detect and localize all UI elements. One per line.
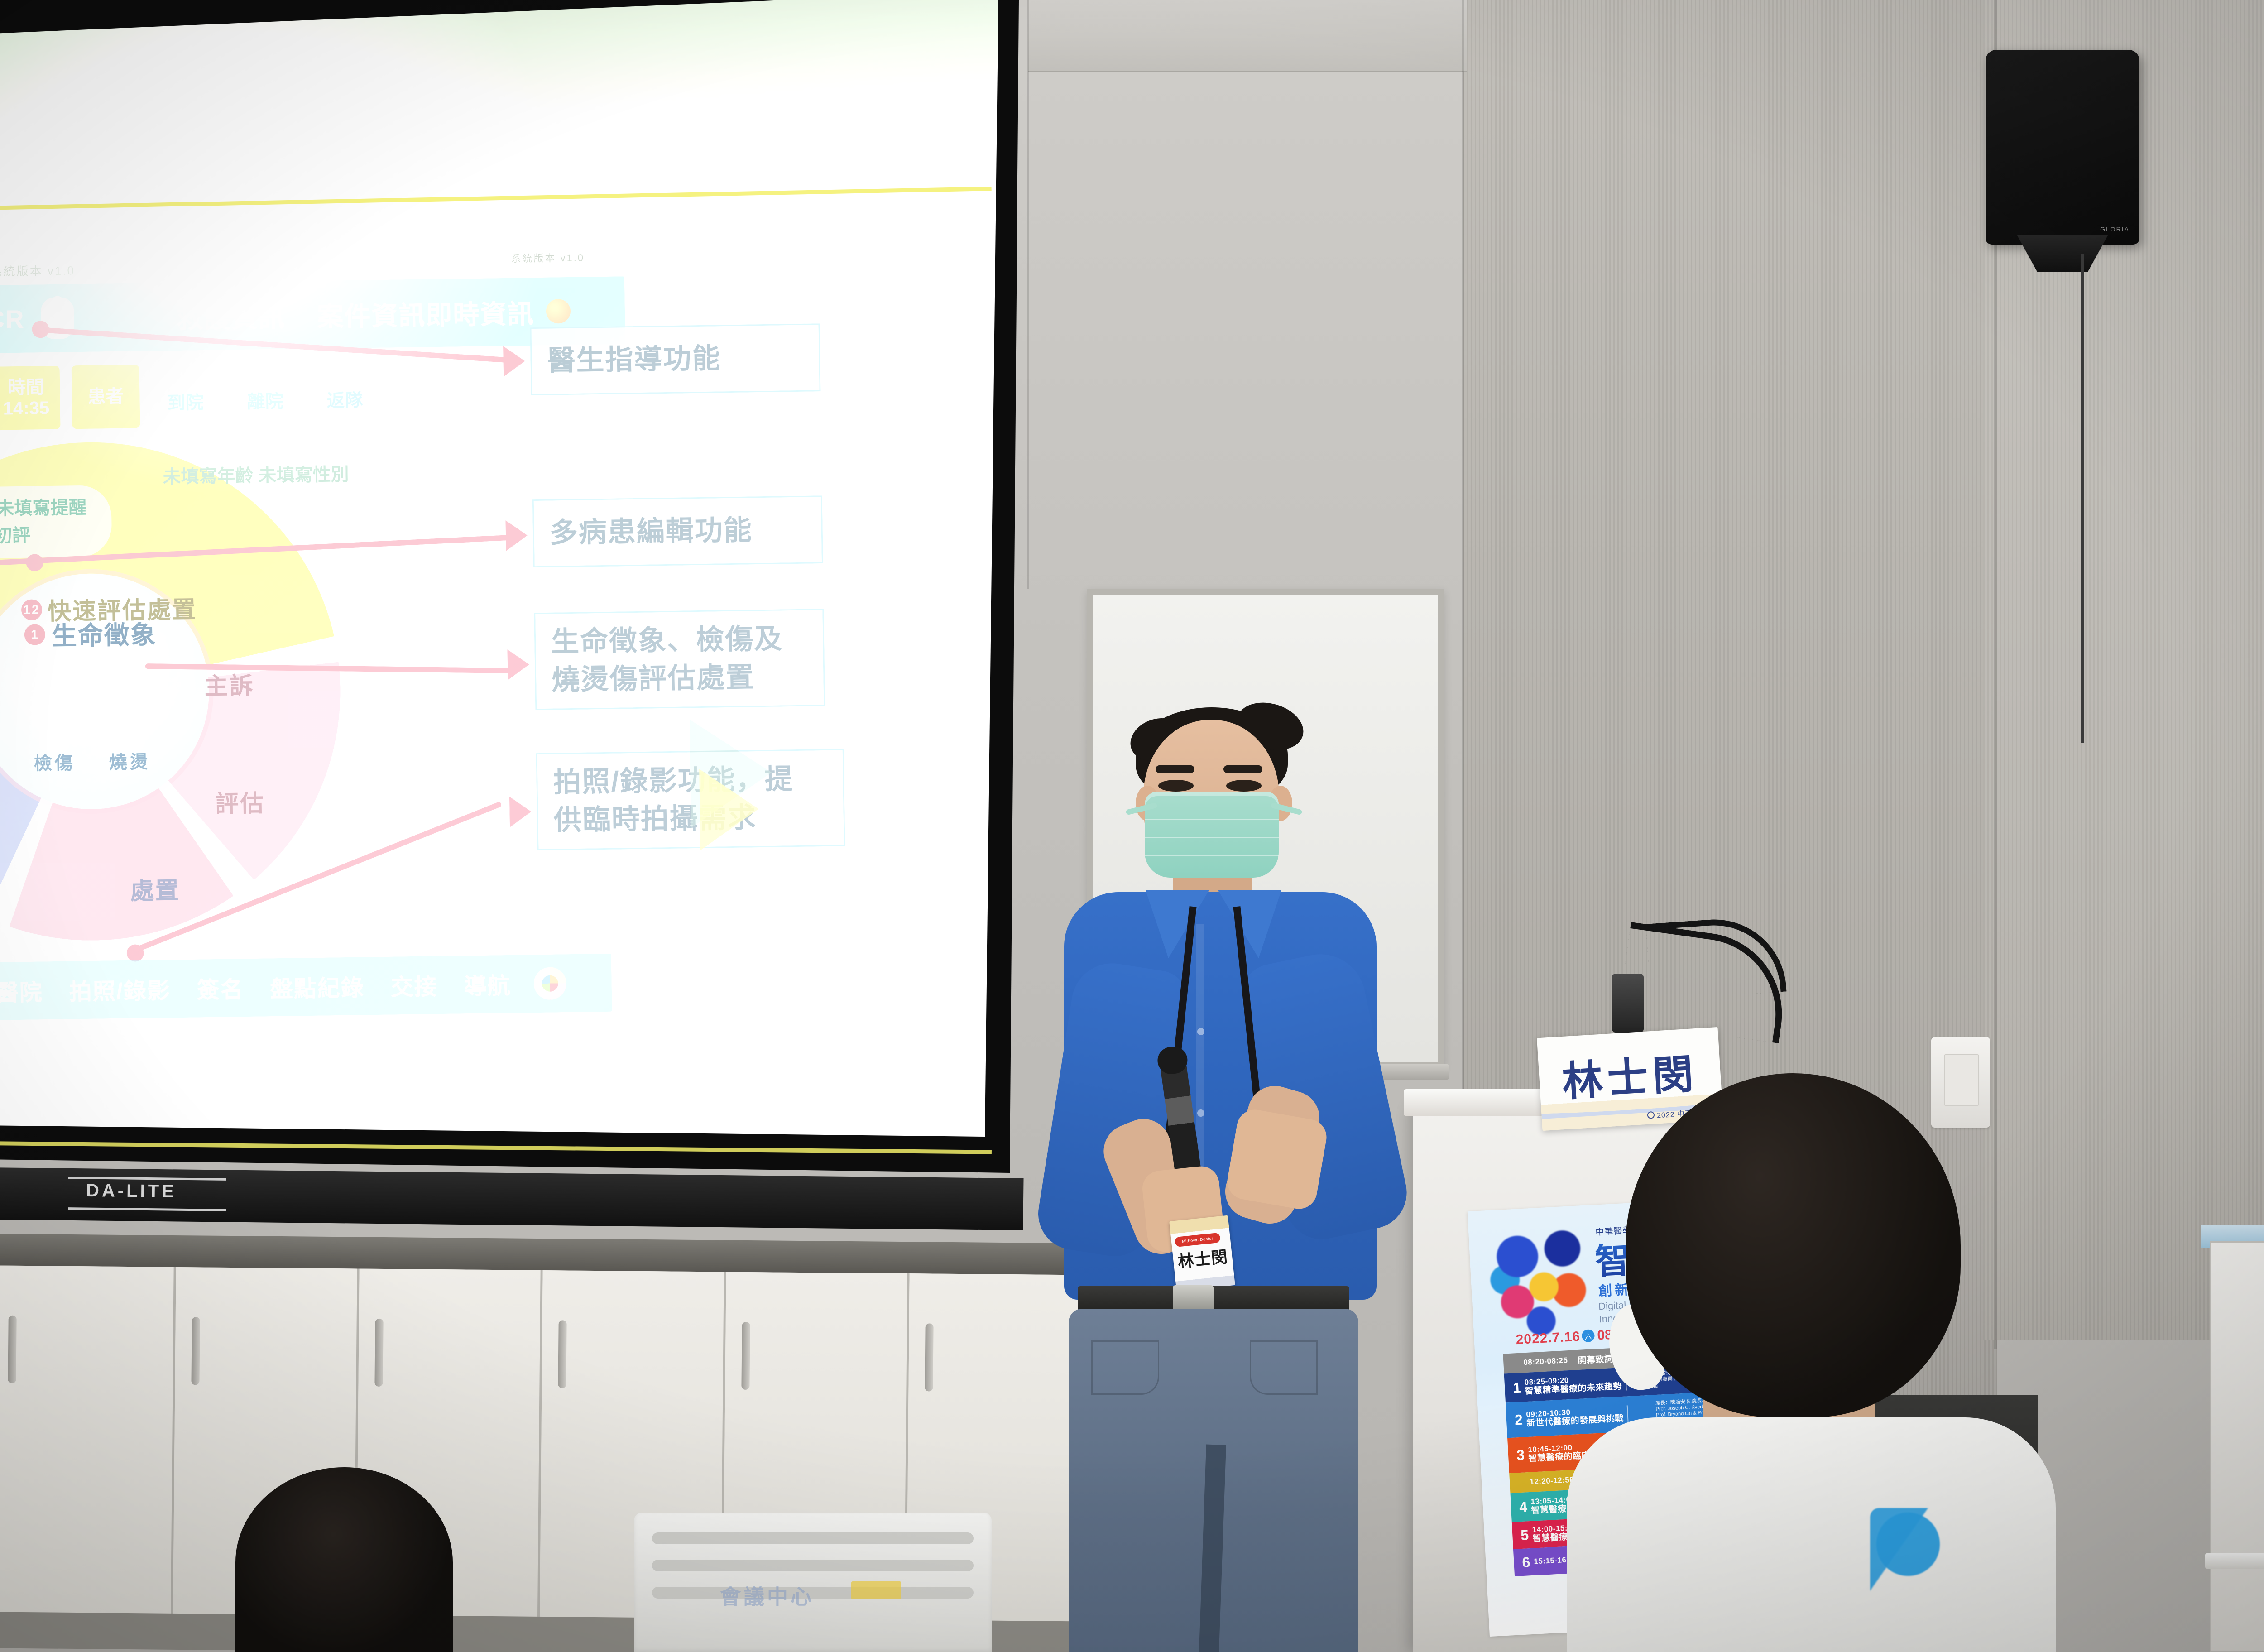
side-cabinet-shelf-edge — [2205, 1553, 2264, 1569]
arrow-head-1 — [503, 346, 525, 377]
arrow-head-2 — [505, 520, 528, 551]
body-figure-burn-icon[interactable]: 燒燙 — [107, 663, 152, 768]
slide-bottom-navbar: 送醫院 拍照/錄影 簽名 盤點紀錄 交接 導航 — [0, 954, 612, 1021]
tab-patient[interactable]: 患者 — [72, 365, 140, 429]
poster-date: 2022.7.16 — [1516, 1329, 1581, 1348]
slide-corner-note-right: 系統版本 v1.0 — [511, 250, 585, 265]
tab-time-label: 時間 — [8, 377, 44, 398]
bottomnav-item-photo-video[interactable]: 拍照/錄影 — [69, 972, 171, 1006]
wheel-bubble-missing-demographics: 未填寫年齡 未填寫性別 — [138, 452, 374, 499]
cabinet-handle[interactable] — [925, 1323, 933, 1391]
wheel-center-badge: 1 — [24, 624, 46, 645]
wheel-label-treatment[interactable]: 處置 — [130, 871, 180, 906]
projected-slide-surface: 系統版本 v1.0 系統版本 v1.0 PCR 救護資訊 案件資訊即時資訊 時間 — [0, 0, 1001, 1150]
chair-asset-tag — [851, 1581, 901, 1599]
bottomnav-item-signature[interactable]: 簽名 — [197, 971, 244, 1004]
tab-patient-label: 患者 — [87, 386, 124, 408]
wheel-label-chief-complaint-text: 主訴 — [204, 667, 254, 701]
bottomnav-item-handover[interactable]: 交接 — [390, 969, 438, 1002]
presenter-jeans-pocket-left — [1091, 1340, 1159, 1395]
body-figure-triage-label: 檢傷 — [33, 748, 77, 775]
wheel-label-rapid-text: 快速評估處置 — [48, 591, 197, 627]
wheel-label-evaluation[interactable]: 評估 — [215, 784, 265, 819]
audience-shirt-logo — [1870, 1508, 1997, 1599]
chair-label: 會議中心 — [720, 1580, 814, 1610]
wheel-label-rapid-assessment[interactable]: 12 快速評估處置 — [21, 591, 197, 627]
topbar-nav-item-0[interactable]: 救護資訊 — [177, 296, 286, 336]
schedule-opening-time: 08:20-08:25 — [1523, 1356, 1568, 1367]
decor-triangle-yellow — [699, 768, 759, 850]
cabinet-handle[interactable] — [558, 1320, 566, 1388]
schedule-3-num: 3 — [1512, 1446, 1529, 1464]
schedule-opening-title: 開幕致詞 — [1578, 1352, 1613, 1366]
wall-seam-mid — [1027, 0, 1029, 589]
audience-head-foreground — [1626, 1073, 1961, 1417]
cabinet-handle[interactable] — [374, 1319, 383, 1387]
wheel-label-evaluation-text: 評估 — [215, 784, 265, 819]
tab-time[interactable]: 時間 14:35 — [0, 366, 61, 430]
callout-multi-patient-edit: 多病患編輯功能 — [532, 495, 823, 567]
poster-weekday: 六 — [1582, 1329, 1595, 1342]
schedule-6-num: 6 — [1518, 1553, 1535, 1571]
face-mask-icon — [1145, 792, 1279, 878]
tab-time-sub: 14:35 — [3, 398, 49, 419]
topbar-status-dot-icon — [546, 299, 571, 324]
presenter-eye-right — [1226, 780, 1262, 792]
presenter-figure: Midtown Doctor 林士閔 — [1037, 711, 1426, 1652]
cabinet-handle[interactable] — [191, 1317, 200, 1385]
presenter-brow-left — [1156, 765, 1194, 773]
screen-brand-label: DA-LITE — [86, 1181, 177, 1202]
tab-return[interactable]: 返隊 — [311, 367, 379, 431]
light-switch[interactable] — [1931, 1037, 1990, 1128]
poster-artwork-blob — [1482, 1219, 1601, 1338]
slide-tab-row: 時間 14:35 患者 到院 離院 返隊 — [0, 361, 379, 436]
photo-scene: GLORIA 系統版本 v1.0 系統版本 v1.0 PCR 救護資訊 案件資訊… — [0, 0, 2264, 1652]
wheel-bubble-missing-fields: 未填寫欄位 未填寫提醒 快速初評 — [0, 485, 112, 560]
slide-content: 系統版本 v1.0 系統版本 v1.0 PCR 救護資訊 案件資訊即時資訊 時間 — [0, 0, 1001, 1150]
cabinet-handle[interactable] — [8, 1316, 16, 1383]
wall-upper-band — [1028, 0, 1467, 72]
speaker-brand-label: GLORIA — [2100, 226, 2130, 233]
projection-screen: 系統版本 v1.0 系統版本 v1.0 PCR 救護資訊 案件資訊即時資訊 時間 — [0, 0, 1023, 1186]
cabinet-door[interactable] — [0, 1265, 176, 1647]
body-figure-triage-icon[interactable]: 檢傷 — [32, 664, 77, 768]
side-cabinet[interactable] — [2210, 1241, 2264, 1652]
schedule-2-num: 2 — [1511, 1411, 1527, 1429]
topbar-nav-item-1[interactable]: 案件資訊即時資訊 — [317, 293, 535, 334]
body-figure-group: 檢傷 燒燙 — [32, 663, 152, 769]
arrow-head-3 — [507, 649, 529, 680]
assessment-wheel-diagram: 1 生命徵象 檢傷 燒燙 — [0, 439, 344, 944]
tab-leave[interactable]: 離院 — [231, 368, 300, 432]
arrow-head-4 — [509, 796, 532, 827]
nameplate-seal-icon — [1647, 1111, 1655, 1119]
wheel-bubble-missing-fields-text: 未填寫欄位 未填寫提醒 — [0, 495, 91, 523]
bottomnav-item-navigation[interactable]: 導航 — [464, 968, 511, 1001]
wheel-label-rapid-badge: 12 — [21, 599, 43, 620]
schedule-lunch-time: 12:20-12:50 — [1530, 1475, 1574, 1487]
bottomnav-item-inventory[interactable]: 盤點紀錄 — [270, 970, 365, 1004]
nameplate-speaker-name: 林士閔 — [1560, 1040, 1699, 1107]
body-figure-burn-label: 燒燙 — [108, 747, 152, 774]
speaker-cable — [2081, 254, 2084, 743]
callout-vitals-triage-burn: 生命徵象、檢傷及 燒燙傷評估處置 — [534, 609, 825, 710]
presenter-eye-left — [1158, 780, 1194, 792]
schedule-5-num: 5 — [1516, 1526, 1533, 1544]
tab-arrive[interactable]: 到院 — [151, 369, 220, 433]
cabinet-handle[interactable] — [741, 1322, 750, 1390]
callout-doctor-guidance: 醫生指導功能 — [530, 323, 820, 395]
presenter-jeans-pocket-right — [1250, 1340, 1318, 1395]
audience-head-left — [235, 1467, 453, 1652]
wheel-label-treatment-text: 處置 — [130, 871, 180, 906]
wheel-label-chief-complaint[interactable]: 主訴 — [204, 667, 254, 701]
schedule-1-num: 1 — [1509, 1379, 1525, 1397]
color-wheel-icon[interactable] — [533, 967, 566, 1000]
bottomnav-item-hospital[interactable]: 送醫院 — [0, 974, 43, 1008]
presenter-brow-right — [1223, 765, 1262, 773]
presenter-hand-right — [1224, 1107, 1329, 1212]
presenter-badge: Midtown Doctor 林士閔 — [1169, 1215, 1235, 1292]
schedule-4-num: 4 — [1515, 1498, 1531, 1516]
badge-name: 林士閔 — [1172, 1243, 1233, 1273]
slide-corner-note: 系統版本 v1.0 — [0, 261, 75, 279]
wheel-bubble-quick-triage-label: 快速初評 — [0, 523, 92, 550]
wall-speaker-icon: GLORIA — [1986, 50, 2139, 245]
app-name-label: PCR — [0, 304, 25, 334]
